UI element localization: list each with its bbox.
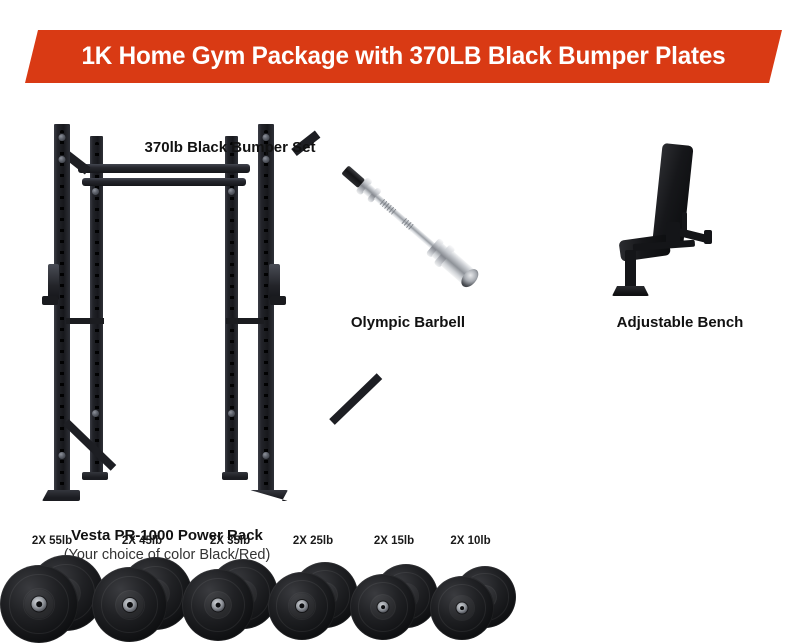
rack-j-hook-right xyxy=(269,264,280,300)
rack-j-hook-arm-left xyxy=(42,296,58,305)
rack-hole-pattern xyxy=(264,130,268,486)
caption-adjustable-bench-title: Adjustable Bench xyxy=(580,313,780,333)
product-image-adjustable-bench: Adjustable Bench xyxy=(600,140,750,308)
rack-bolt xyxy=(263,452,270,459)
rack-bolt xyxy=(228,188,235,195)
plate-pair-15: 2X 15lb xyxy=(350,535,438,640)
rack-upright-front-right xyxy=(258,124,274,492)
promo-banner: 1K Home Gym Package with 370LB Black Bum… xyxy=(25,30,782,83)
rack-foot-front-right xyxy=(250,490,288,501)
rack-bolt xyxy=(92,188,99,195)
plate-disc-front xyxy=(0,565,78,643)
product-image-olympic-barbell: Olympic Barbell xyxy=(318,145,498,305)
caption-adjustable-bench: Adjustable Bench xyxy=(580,313,780,333)
product-image-power-rack: Vesta PR-1000 Power Rack (Your choice of… xyxy=(42,118,290,518)
plate-label-45: 2X 45lb xyxy=(122,535,162,547)
caption-olympic-barbell: Olympic Barbell xyxy=(308,313,508,333)
plate-hub xyxy=(123,598,137,612)
plate-hub xyxy=(296,600,308,612)
plate-hub xyxy=(212,599,225,612)
plate-label-10: 2X 10lb xyxy=(450,535,490,547)
rack-safety-bar-left xyxy=(66,318,104,324)
plate-hub xyxy=(32,597,47,612)
rack-upright-back-right xyxy=(225,136,238,476)
plate-disc-front xyxy=(182,569,254,641)
rack-upright-back-left xyxy=(90,136,103,476)
rack-hole-pattern xyxy=(60,130,64,486)
plate-pair-55: 2X 55lb xyxy=(0,535,104,640)
rack-pullup-bar-lower xyxy=(82,178,246,186)
caption-olympic-barbell-title: Olympic Barbell xyxy=(308,313,508,333)
rack-bolt xyxy=(92,410,99,417)
rack-j-hook-left xyxy=(48,264,59,300)
plate-pair-25: 2X 25lb xyxy=(268,535,358,640)
plate-disc-front xyxy=(350,574,416,640)
rack-bolt xyxy=(228,410,235,417)
plate-disc-front xyxy=(92,567,167,642)
plate-label-25: 2X 25lb xyxy=(293,535,333,547)
plate-label-55: 2X 55lb xyxy=(32,535,72,547)
plate-pair-10: 2X 10lb xyxy=(430,535,518,640)
plate-label-35: 2X 35lb xyxy=(210,535,250,547)
caption-bumper-set-title: 370lb Black Bumper Set xyxy=(60,138,400,158)
rack-safety-bar-right xyxy=(226,318,264,324)
banner-title: 1K Home Gym Package with 370LB Black Bum… xyxy=(36,30,770,83)
rack-foot-back-right xyxy=(222,472,248,480)
bench-front-column xyxy=(625,250,636,288)
rack-brace-lower-right xyxy=(329,373,382,425)
plate-pair-35: 2X 35lb xyxy=(182,535,278,640)
plate-pair-45: 2X 45lb xyxy=(92,535,192,640)
rack-upright-front-left xyxy=(54,124,70,492)
rack-foot-front-left xyxy=(42,490,80,501)
bench-front-foot xyxy=(612,286,649,296)
caption-bumper-set: 370lb Black Bumper Set xyxy=(60,138,400,158)
plate-disc-front xyxy=(268,572,336,640)
rack-pullup-bar-upper xyxy=(78,164,250,173)
plate-disc-front xyxy=(430,576,494,640)
rack-bolt xyxy=(59,452,66,459)
rack-foot-back-left xyxy=(82,472,108,480)
rack-j-hook-arm-right xyxy=(270,296,286,305)
plate-hub xyxy=(457,603,468,614)
plate-label-15: 2X 15lb xyxy=(374,535,414,547)
bench-rear-leg xyxy=(704,230,712,244)
plate-hub xyxy=(378,602,389,613)
